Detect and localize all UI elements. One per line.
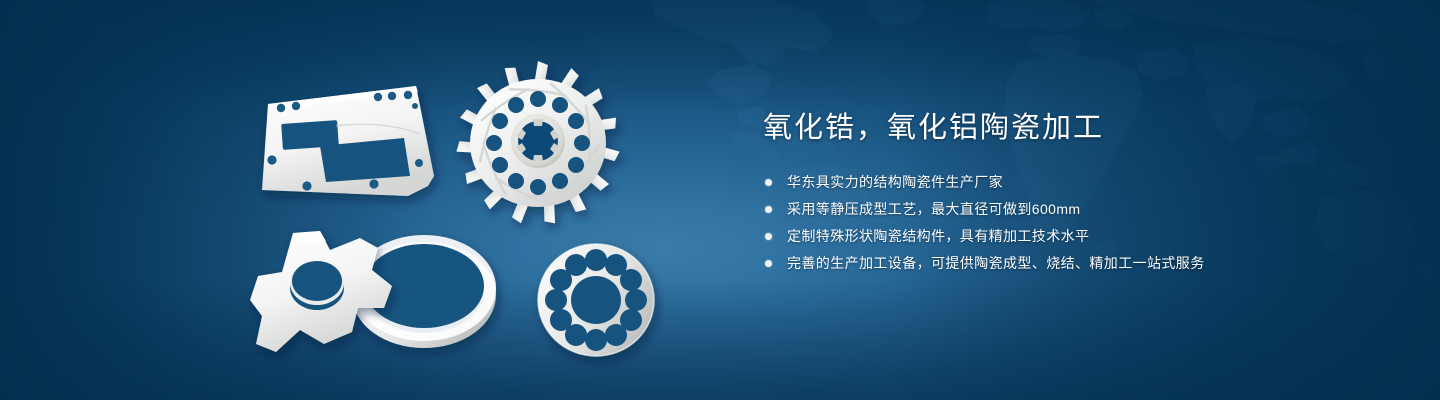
ceramic-impeller-photo — [455, 61, 620, 225]
ceramic-cross-part-photo — [250, 231, 392, 352]
feature-list: 华东具实力的结构陶瓷件生产厂家 采用等静压成型工艺，最大直径可做到600mm 定… — [763, 170, 1383, 275]
feature-text: 定制特殊形状陶瓷结构件，具有精加工技术水平 — [787, 228, 1089, 244]
feature-list-item: 完善的生产加工设备，可提供陶瓷成型、烧结、精加工一站式服务 — [763, 251, 1383, 275]
product-photo-group — [0, 0, 720, 400]
feature-list-item: 采用等静压成型工艺，最大直径可做到600mm — [763, 197, 1383, 221]
ceramic-plate-photo — [262, 86, 434, 196]
bullet-dot-icon — [765, 260, 772, 267]
feature-list-item: 华东具实力的结构陶瓷件生产厂家 — [763, 170, 1383, 194]
bullet-dot-icon — [765, 206, 772, 213]
bullet-dot-icon — [765, 233, 772, 240]
feature-text: 采用等静压成型工艺，最大直径可做到600mm — [787, 201, 1080, 217]
feature-text: 华东具实力的结构陶瓷件生产厂家 — [787, 174, 1003, 190]
bullet-dot-icon — [765, 179, 772, 186]
ceramic-perforated-ring-photo — [538, 244, 654, 356]
promo-banner: 氧化锆，氧化铝陶瓷加工 华东具实力的结构陶瓷件生产厂家 采用等静压成型工艺，最大… — [0, 0, 1440, 400]
feature-text: 完善的生产加工设备，可提供陶瓷成型、烧结、精加工一站式服务 — [787, 255, 1205, 271]
banner-headline: 氧化锆，氧化铝陶瓷加工 — [763, 108, 1383, 148]
feature-list-item: 定制特殊形状陶瓷结构件，具有精加工技术水平 — [763, 224, 1383, 248]
banner-copy: 氧化锆，氧化铝陶瓷加工 华东具实力的结构陶瓷件生产厂家 采用等静压成型工艺，最大… — [763, 108, 1383, 278]
